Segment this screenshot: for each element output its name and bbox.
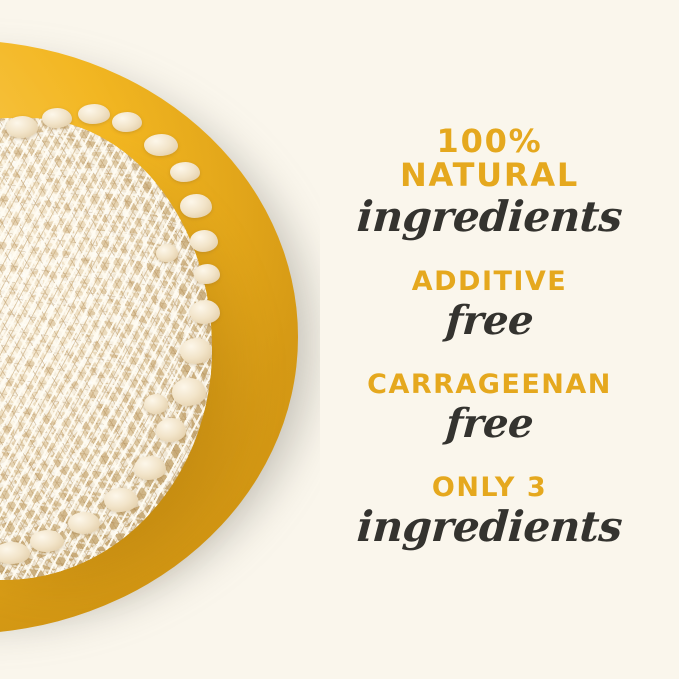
claim-only3: ONLY 3 ingredients xyxy=(300,474,679,549)
product-claims-card: 100% NATURAL ingredients ADDITIVE free C… xyxy=(0,0,679,679)
claim-carrageenan-script: free xyxy=(299,404,679,444)
claim-only3-headline: ONLY 3 xyxy=(300,474,679,503)
claim-only3-script: ingredients xyxy=(299,506,679,548)
claim-natural-headline: 100% NATURAL xyxy=(300,125,679,193)
claim-carrageenan-headline: CARRAGEENAN xyxy=(300,371,679,400)
claim-additive-headline: ADDITIVE xyxy=(300,268,679,297)
claim-additive-script: free xyxy=(299,301,679,341)
claim-only3-headline-line1: ONLY 3 xyxy=(432,472,547,503)
product-photo-panel xyxy=(0,0,320,679)
claim-additive: ADDITIVE free xyxy=(300,268,679,341)
claim-carrageenan-headline-line1: CARRAGEENAN xyxy=(367,369,612,400)
claim-carrageenan: CARRAGEENAN free xyxy=(300,371,679,444)
claim-natural-script: ingredients xyxy=(299,196,679,238)
claim-natural-headline-line2: NATURAL xyxy=(300,159,679,193)
claim-additive-headline-line1: ADDITIVE xyxy=(412,266,567,297)
claims-column: 100% NATURAL ingredients ADDITIVE free C… xyxy=(300,0,679,679)
claim-natural-headline-line1: 100% xyxy=(437,122,543,160)
claim-natural: 100% NATURAL ingredients xyxy=(300,125,679,239)
